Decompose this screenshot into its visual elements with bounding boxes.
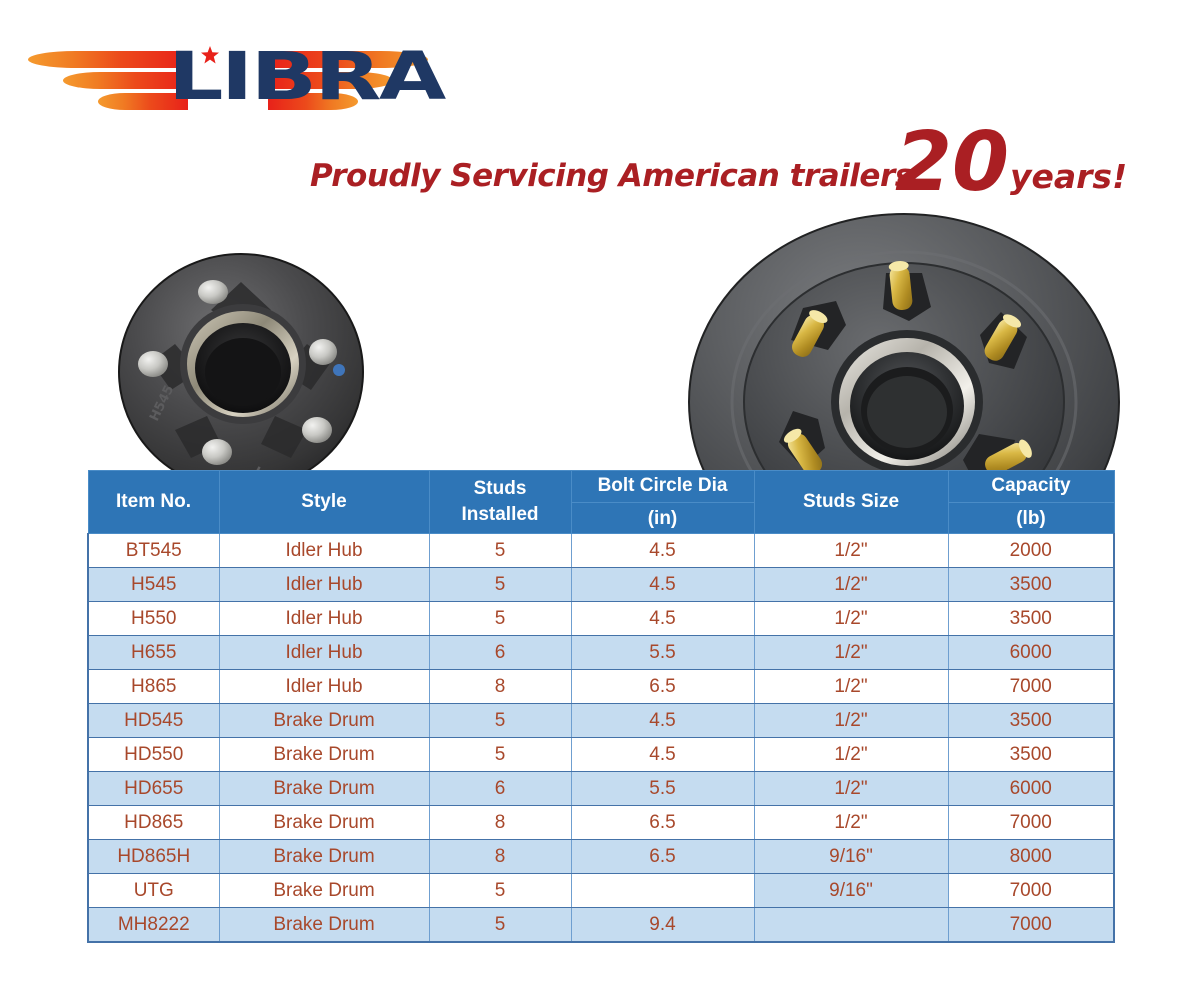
cell-studs: 8	[429, 670, 571, 704]
cell-studs: 5	[429, 602, 571, 636]
tagline-suffix: years!	[1010, 157, 1127, 196]
cell-studs: 8	[429, 840, 571, 874]
table-row: HD655Brake Drum65.51/2"6000	[88, 772, 1114, 806]
table-row: H550Idler Hub54.51/2"3500	[88, 602, 1114, 636]
cell-size: 1/2"	[754, 806, 948, 840]
cell-cap: 3500	[948, 738, 1114, 772]
cell-bolt: 5.5	[571, 772, 754, 806]
cell-studs: 5	[429, 908, 571, 943]
cell-cap: 2000	[948, 534, 1114, 568]
cell-studs: 5	[429, 568, 571, 602]
cell-size: 1/2"	[754, 534, 948, 568]
cell-studs: 5	[429, 738, 571, 772]
cell-item: HD865	[88, 806, 219, 840]
table-row: HD865HBrake Drum86.59/16"8000	[88, 840, 1114, 874]
table-row: HD865Brake Drum86.51/2"7000	[88, 806, 1114, 840]
cell-studs: 6	[429, 772, 571, 806]
column-header-capacity[interactable]: Capacity (lb)	[948, 471, 1114, 534]
cell-item: UTG	[88, 874, 219, 908]
cell-item: HD655	[88, 772, 219, 806]
cell-cap: 7000	[948, 806, 1114, 840]
cell-style: Brake Drum	[219, 772, 429, 806]
cell-size: 1/2"	[754, 670, 948, 704]
cell-size: 1/2"	[754, 772, 948, 806]
table-row: UTGBrake Drum59/16"7000	[88, 874, 1114, 908]
cell-size: 1/2"	[754, 738, 948, 772]
cell-studs: 5	[429, 534, 571, 568]
table-row: BT545Idler Hub54.51/2"2000	[88, 534, 1114, 568]
cell-cap: 7000	[948, 670, 1114, 704]
idler-hub-photo: H545 LIBRA	[95, 252, 387, 490]
cell-style: Idler Hub	[219, 568, 429, 602]
cell-cap: 7000	[948, 874, 1114, 908]
cell-item: BT545	[88, 534, 219, 568]
table-header-row: Item No. Style Studs Installed Bolt Circ…	[88, 471, 1114, 534]
column-header-studs-size-label: Studs Size	[803, 491, 899, 512]
cell-bolt: 4.5	[571, 704, 754, 738]
cell-cap: 8000	[948, 840, 1114, 874]
column-header-style[interactable]: Style	[219, 471, 429, 534]
column-header-capacity-label: Capacity	[948, 473, 1115, 503]
column-header-studs-sublabel: Installed	[461, 504, 538, 525]
cell-bolt: 4.5	[571, 602, 754, 636]
cell-bolt: 4.5	[571, 568, 754, 602]
cell-item: H865	[88, 670, 219, 704]
cell-item: H550	[88, 602, 219, 636]
cell-bolt	[571, 874, 754, 908]
cell-style: Brake Drum	[219, 840, 429, 874]
column-header-item-no[interactable]: Item No.	[88, 471, 219, 534]
table-row: HD545Brake Drum54.51/2"3500	[88, 704, 1114, 738]
table-row: MH8222Brake Drum59.47000	[88, 908, 1114, 943]
cell-bolt: 6.5	[571, 806, 754, 840]
cell-cap: 3500	[948, 568, 1114, 602]
cell-style: Brake Drum	[219, 874, 429, 908]
column-header-style-label: Style	[301, 491, 346, 512]
cell-size: 1/2"	[754, 704, 948, 738]
cell-style: Idler Hub	[219, 602, 429, 636]
cell-cap: 3500	[948, 602, 1114, 636]
column-header-item-no-label: Item No.	[116, 491, 191, 512]
column-header-studs-label: Studs	[474, 478, 527, 499]
cell-size	[754, 908, 948, 943]
cell-style: Brake Drum	[219, 806, 429, 840]
cell-studs: 6	[429, 636, 571, 670]
cell-bolt: 4.5	[571, 534, 754, 568]
libra-logo: LIBRA	[18, 30, 438, 120]
cell-size: 9/16"	[754, 874, 948, 908]
cell-studs: 8	[429, 806, 571, 840]
logo-wing-left-upper	[28, 51, 188, 68]
column-header-studs-installed[interactable]: Studs Installed	[429, 471, 571, 534]
cell-item: H655	[88, 636, 219, 670]
cell-size: 9/16"	[754, 840, 948, 874]
table-body: BT545Idler Hub54.51/2"2000H545Idler Hub5…	[88, 534, 1114, 943]
cell-style: Idler Hub	[219, 534, 429, 568]
tagline-number: 20	[895, 126, 1009, 200]
cell-cap: 6000	[948, 772, 1114, 806]
cell-bolt: 9.4	[571, 908, 754, 943]
cell-size: 1/2"	[754, 568, 948, 602]
star-icon	[201, 46, 219, 64]
cell-item: HD550	[88, 738, 219, 772]
cell-size: 1/2"	[754, 602, 948, 636]
cell-studs: 5	[429, 704, 571, 738]
cell-style: Idler Hub	[219, 636, 429, 670]
cell-style: Brake Drum	[219, 704, 429, 738]
logo-wordmark: LIBRA	[168, 38, 340, 116]
column-header-capacity-sublabel: (lb)	[953, 503, 1110, 532]
cell-size: 1/2"	[754, 636, 948, 670]
table-row: HD550Brake Drum54.51/2"3500	[88, 738, 1114, 772]
cell-item: MH8222	[88, 908, 219, 943]
cell-bolt: 4.5	[571, 738, 754, 772]
column-header-bolt-sublabel: (in)	[576, 503, 750, 532]
table-row: H865Idler Hub86.51/2"7000	[88, 670, 1114, 704]
hub-spec-table: Item No. Style Studs Installed Bolt Circ…	[87, 470, 1115, 943]
cell-bolt: 6.5	[571, 840, 754, 874]
cell-cap: 7000	[948, 908, 1114, 943]
cell-bolt: 5.5	[571, 636, 754, 670]
tagline: Proudly Servicing American trailers 20 y…	[310, 130, 1130, 200]
cell-item: HD865H	[88, 840, 219, 874]
cell-cap: 3500	[948, 704, 1114, 738]
cell-style: Brake Drum	[219, 908, 429, 943]
cell-item: HD545	[88, 704, 219, 738]
tagline-text: Proudly Servicing American trailers	[310, 158, 913, 194]
column-header-studs-size[interactable]: Studs Size	[754, 471, 948, 534]
cell-cap: 6000	[948, 636, 1114, 670]
column-header-bolt-circle-dia[interactable]: Bolt Circle Dia (in)	[571, 471, 754, 534]
table-row: H655Idler Hub65.51/2"6000	[88, 636, 1114, 670]
table-row: H545Idler Hub54.51/2"3500	[88, 568, 1114, 602]
cell-bolt: 6.5	[571, 670, 754, 704]
cell-style: Idler Hub	[219, 670, 429, 704]
column-header-bolt-label: Bolt Circle Dia	[571, 473, 755, 503]
cell-item: H545	[88, 568, 219, 602]
cell-studs: 5	[429, 874, 571, 908]
cell-style: Brake Drum	[219, 738, 429, 772]
